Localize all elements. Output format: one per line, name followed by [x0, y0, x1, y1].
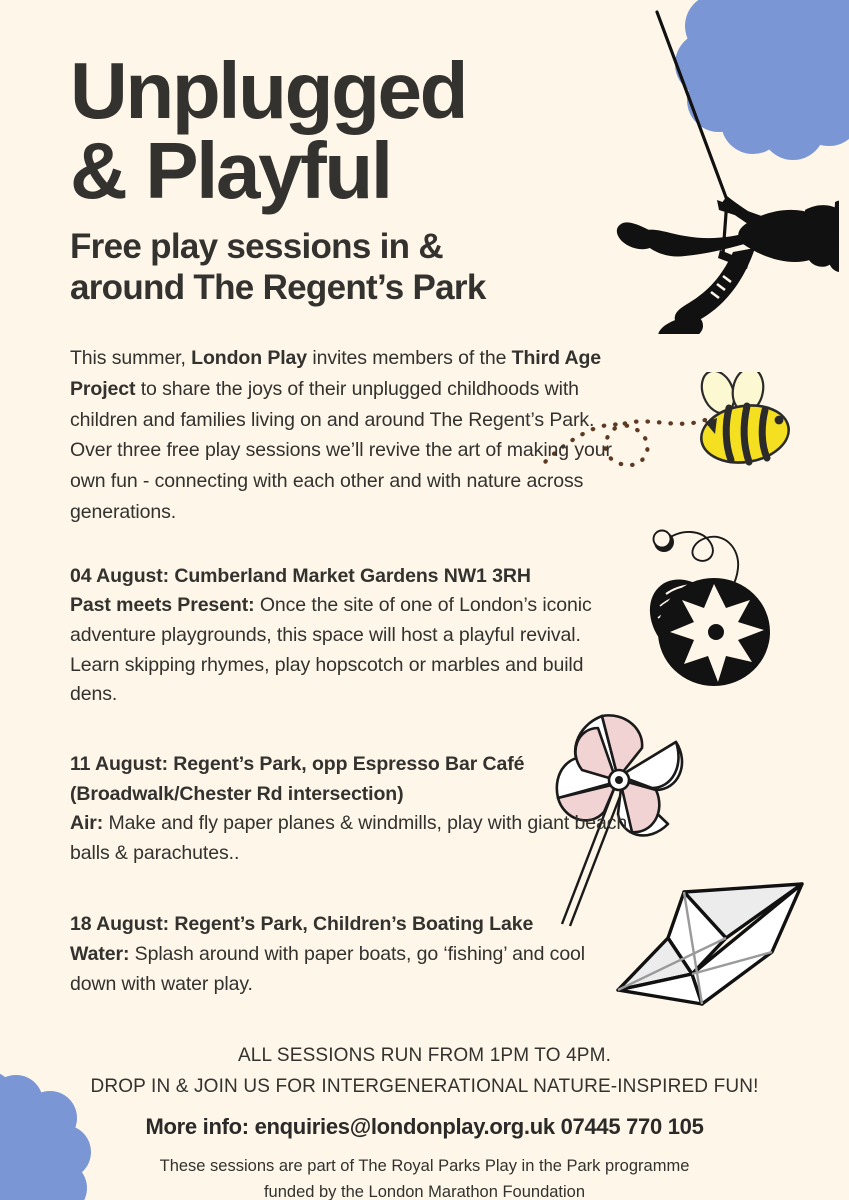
session-block-04-august: 04 August: Cumberland Market Gardens NW1… [70, 562, 630, 710]
session-location-detail: (Broadwalk/Chester Rd intersection) [70, 780, 630, 810]
session-date-line: 11 August: Regent’s Park, opp Espresso B… [70, 750, 630, 780]
page-title-line-1: Unplugged [70, 52, 630, 130]
subtitle-line-1: Free play sessions in & [70, 227, 443, 266]
poster-canvas: Unplugged & Playful Free play sessions i… [0, 0, 849, 1200]
intro-paragraph: This summer, London Play invites members… [70, 343, 635, 528]
intro-text-3: to share the joys of their unplugged chi… [70, 378, 612, 523]
subtitle-line-2: around The Regent’s Park [70, 268, 486, 307]
session-description: Water: Splash around with paper boats, g… [70, 940, 630, 999]
session-block-18-august: 18 August: Regent’s Park, Children’s Boa… [70, 910, 630, 999]
intro-text-2: invites members of the [307, 347, 512, 369]
session-times-line: ALL SESSIONS RUN FROM 1PM TO 4PM. [70, 1041, 779, 1071]
session-description: Air: Make and fly paper planes & windmil… [70, 809, 630, 868]
credit-line-1: These sessions are part of The Royal Par… [70, 1154, 779, 1180]
poster-content: Unplugged & Playful Free play sessions i… [0, 0, 849, 1200]
session-body-text: Make and fly paper planes & windmills, p… [70, 812, 627, 864]
intro-bold-london-play: London Play [191, 347, 307, 369]
subtitle: Free play sessions in & around The Regen… [70, 227, 650, 309]
page-title-line-2: & Playful [70, 132, 630, 210]
headline-block: Unplugged & Playful Free play sessions i… [70, 0, 793, 309]
drop-in-invite-line: DROP IN & JOIN US FOR INTERGENERATIONAL … [70, 1072, 779, 1102]
session-date-line: 04 August: Cumberland Market Gardens NW1… [70, 562, 630, 592]
session-lead-label: Water: [70, 943, 129, 965]
session-lead-label: Past meets Present: [70, 594, 255, 616]
footer-block: ALL SESSIONS RUN FROM 1PM TO 4PM. DROP I… [70, 1041, 793, 1200]
contact-info-line[interactable]: More info: enquiries@londonplay.org.uk 0… [70, 1114, 779, 1140]
credit-line-2: funded by the London Marathon Foundation [70, 1180, 779, 1200]
session-description: Past meets Present: Once the site of one… [70, 591, 630, 710]
session-lead-label: Air: [70, 812, 103, 834]
session-body-text: Splash around with paper boats, go ‘fish… [70, 943, 585, 995]
intro-text-1: This summer, [70, 347, 191, 369]
session-block-11-august: 11 August: Regent’s Park, opp Espresso B… [70, 750, 630, 869]
session-date-line: 18 August: Regent’s Park, Children’s Boa… [70, 910, 630, 940]
